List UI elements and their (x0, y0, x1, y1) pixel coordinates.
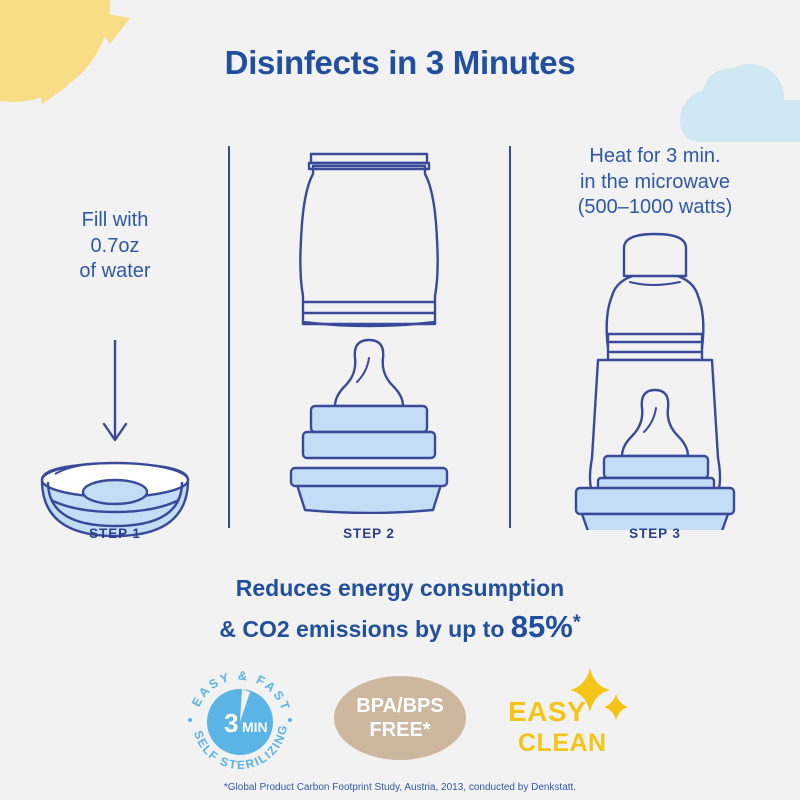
arc-dot-right-icon (288, 718, 292, 722)
eco-claim-value: 85% (511, 609, 573, 644)
down-arrow-icon (104, 340, 126, 440)
easy-clean-line-1: EASY (508, 696, 586, 727)
arc-dot-left-icon (188, 718, 192, 722)
step-2-label: STEP 2 (238, 526, 500, 541)
badges-row: 3 MIN EASY & FAST SELF STERILIZING BPA/B… (0, 662, 800, 774)
eco-claim-line-2: & CO2 emissions by up to 85%* (0, 605, 800, 649)
step-1-caption-line-2: 0.7oz (10, 234, 220, 260)
step-2-artwork (238, 144, 500, 514)
column-divider-1 (228, 146, 230, 528)
easy-clean-line-2: CLEAN (518, 731, 607, 756)
assembled-sterilizer-icon (576, 234, 734, 530)
step-2-column: STEP 2 (238, 140, 500, 540)
badge-center-unit: MIN (242, 719, 268, 735)
badge-center-number: 3 (224, 708, 238, 738)
bpa-line-2: FREE* (369, 718, 430, 742)
step-3-column: Heat for 3 min. in the microwave (500–10… (519, 140, 791, 540)
easy-clean-sparkle-badge: EASY CLEAN (498, 662, 666, 774)
page-title: Disinfects in 3 Minutes (0, 44, 800, 82)
bpa-line-1: BPA/BPS (356, 694, 443, 718)
step-3-caption: Heat for 3 min. in the microwave (500–10… (519, 144, 791, 221)
eco-claim-prefix: & CO2 emissions by up to (219, 616, 510, 642)
step-1-artwork (10, 340, 220, 540)
bpa-bps-free-badge: BPA/BPS FREE* (334, 662, 470, 770)
step-1-caption: Fill with 0.7oz of water (10, 208, 220, 285)
step-3-caption-line-1: Heat for 3 min. (519, 144, 791, 170)
step-1-column: Fill with 0.7oz of water (10, 140, 220, 540)
step-1-caption-line-1: Fill with (10, 208, 220, 234)
eco-claim: Reduces energy consumption & CO2 emissio… (0, 572, 800, 649)
three-min-self-sterilizing-badge: 3 MIN EASY & FAST SELF STERILIZING (176, 662, 304, 774)
step-3-label: STEP 3 (519, 526, 791, 541)
steps-band: Fill with 0.7oz of water (0, 140, 800, 540)
column-divider-2 (509, 146, 511, 528)
bottle-teat-base-exploded-icon (291, 154, 447, 513)
bpa-oval: BPA/BPS FREE* (334, 676, 466, 760)
easy-clean-text: EASY CLEAN (508, 698, 607, 756)
eco-claim-line-1: Reduces energy consumption (0, 572, 800, 605)
step-1-caption-line-3: of water (10, 259, 220, 285)
eco-claim-footnote-marker: * (573, 611, 581, 633)
step-3-artwork (519, 230, 791, 530)
footnote: *Global Product Carbon Footprint Study, … (0, 782, 800, 793)
step-3-caption-line-3: (500–1000 watts) (519, 195, 791, 221)
cloud-icon (650, 24, 800, 144)
step-3-caption-line-2: in the microwave (519, 170, 791, 196)
step-1-label: STEP 1 (10, 526, 220, 541)
